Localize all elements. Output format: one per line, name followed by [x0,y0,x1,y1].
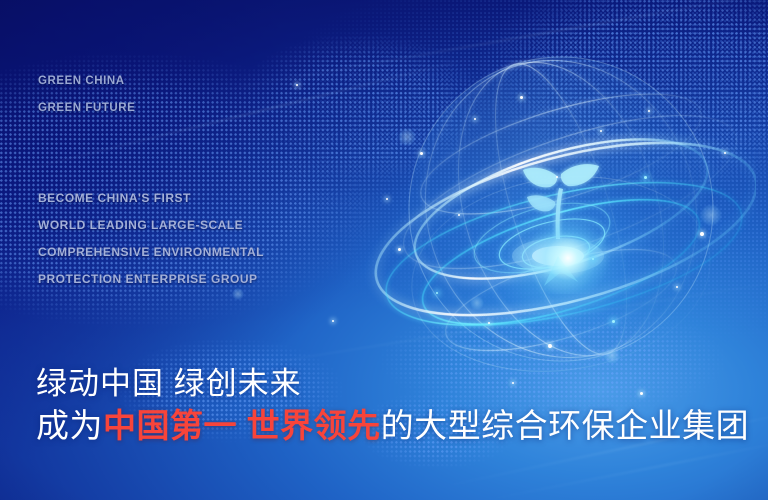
background-vignette [0,0,768,500]
promo-banner: GREEN CHINA GREEN FUTURE BECOME CHINA'S … [0,0,768,500]
